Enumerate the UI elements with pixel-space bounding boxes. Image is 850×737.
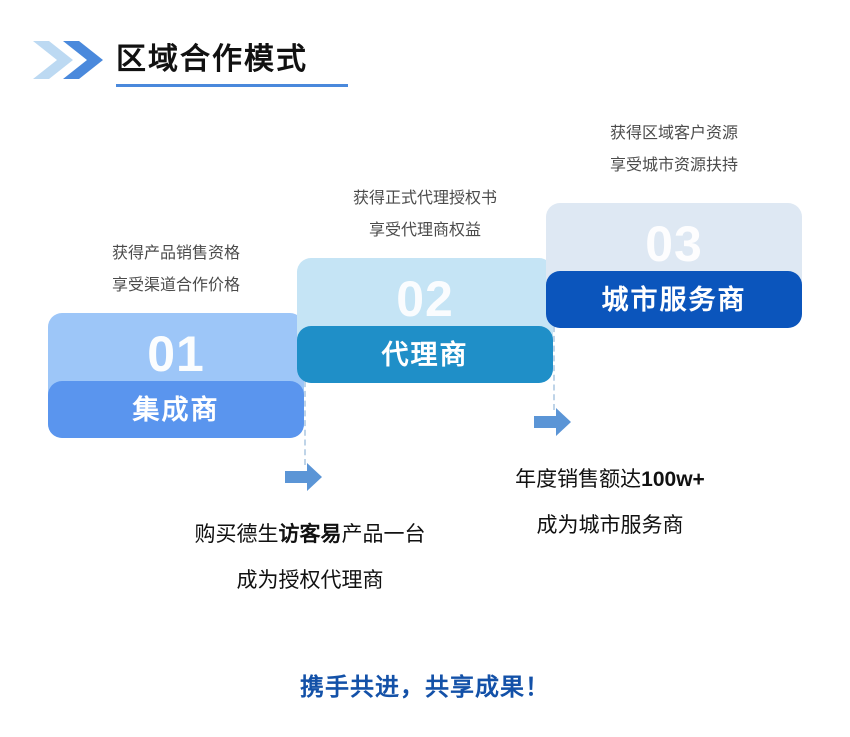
tier-band-01: 集成商 bbox=[48, 381, 304, 438]
step-description-01: 购买德生访客易产品一台 成为授权代理商 bbox=[135, 512, 485, 604]
tier-caption-01-line1: 获得产品销售资格 bbox=[48, 238, 304, 270]
step-description-02-line2: 成为城市服务商 bbox=[460, 503, 760, 549]
tier-card-agent[interactable]: 02 代理商 bbox=[297, 258, 553, 383]
tier-caption-02-line1: 获得正式代理授权书 bbox=[297, 183, 553, 215]
step-description-01-line1: 购买德生访客易产品一台 bbox=[135, 512, 485, 558]
step-description-01-line2: 成为授权代理商 bbox=[135, 558, 485, 604]
right-arrow-icon-02 bbox=[534, 407, 572, 437]
tier-number-03: 03 bbox=[546, 217, 802, 271]
tier-caption-01: 获得产品销售资格 享受渠道合作价格 bbox=[48, 238, 304, 302]
tier-label-03: 城市服务商 bbox=[602, 285, 747, 315]
tier-label-01: 集成商 bbox=[133, 395, 220, 425]
tier-caption-02-line2: 享受代理商权益 bbox=[297, 215, 553, 247]
tier-number-01: 01 bbox=[48, 327, 304, 381]
tier-label-02: 代理商 bbox=[382, 340, 469, 370]
step-description-02: 年度销售额达100w+ 成为城市服务商 bbox=[460, 457, 760, 549]
tier-number-02: 02 bbox=[297, 272, 553, 326]
tier-caption-03-line1: 获得区域客户资源 bbox=[546, 118, 802, 150]
tier-caption-01-line2: 享受渠道合作价格 bbox=[48, 270, 304, 302]
tier-band-03: 城市服务商 bbox=[546, 271, 802, 328]
step-01-line1-strong: 访客易 bbox=[279, 523, 342, 546]
partnership-tiers-diagram: 获得产品销售资格 享受渠道合作价格 获得正式代理授权书 享受代理商权益 获得区域… bbox=[0, 0, 850, 737]
step-02-line1-prefix: 年度销售额达 bbox=[515, 468, 641, 491]
tier-caption-02: 获得正式代理授权书 享受代理商权益 bbox=[297, 183, 553, 247]
tier-card-city-service-provider[interactable]: 03 城市服务商 bbox=[546, 203, 802, 328]
right-arrow-icon-01 bbox=[285, 462, 323, 492]
footer-slogan: 携手共进，共享成果！ bbox=[0, 672, 850, 704]
tier-card-integrator[interactable]: 01 集成商 bbox=[48, 313, 304, 438]
step-01-line1-suffix: 产品一台 bbox=[342, 523, 426, 546]
step-01-line1-prefix: 购买德生 bbox=[195, 523, 279, 546]
tier-caption-03: 获得区域客户资源 享受城市资源扶持 bbox=[546, 118, 802, 182]
tier-band-02: 代理商 bbox=[297, 326, 553, 383]
step-description-02-line1: 年度销售额达100w+ bbox=[460, 457, 760, 503]
step-02-line1-strong: 100w+ bbox=[641, 468, 705, 491]
tier-caption-03-line2: 享受城市资源扶持 bbox=[546, 150, 802, 182]
